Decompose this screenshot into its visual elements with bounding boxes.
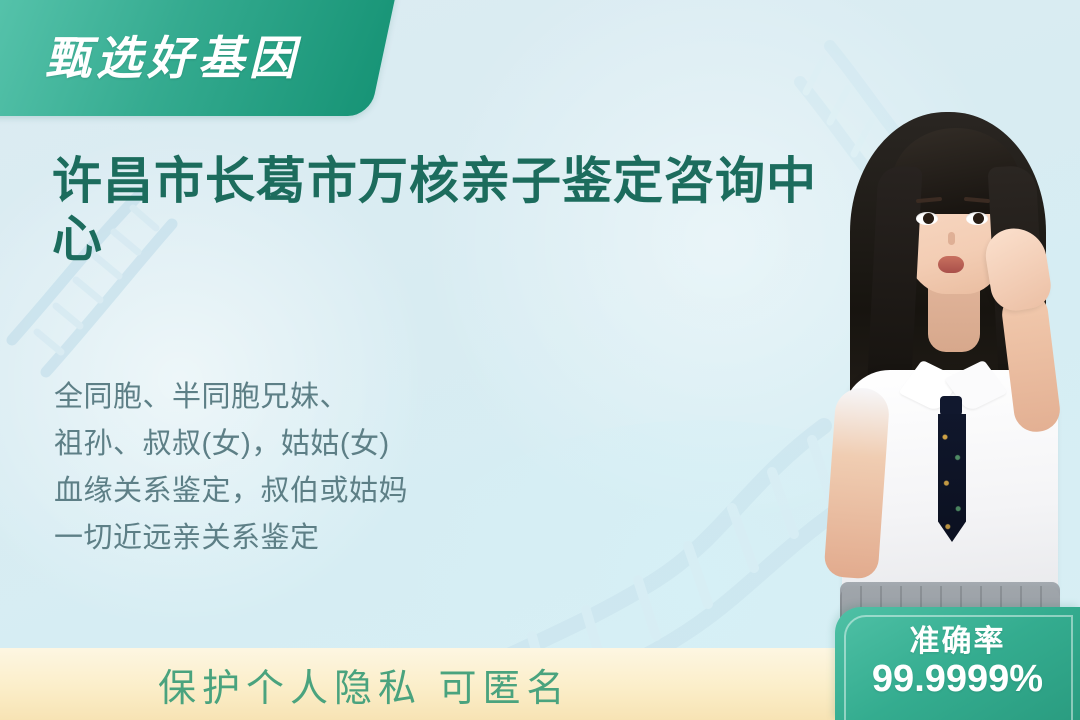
model-tie	[938, 414, 966, 542]
accuracy-badge: 准确率 99.9999%	[835, 607, 1080, 720]
page-title: 许昌市长葛市万核亲子鉴定咨询中心	[52, 152, 852, 268]
service-line: 全同胞、半同胞兄妹、	[54, 374, 408, 421]
brand-banner: 甄选好基因	[0, 0, 396, 116]
accuracy-label: 准确率	[910, 626, 1006, 658]
model-tie-knot	[940, 396, 962, 416]
model-pupil-right	[973, 213, 984, 224]
model-nose	[948, 232, 955, 245]
service-list: 全同胞、半同胞兄妹、 祖孙、叔叔(女)，姑姑(女) 血缘关系鉴定，叔伯或姑妈 一…	[54, 374, 408, 562]
model-pupil-left	[923, 213, 934, 224]
model-mouth	[938, 256, 964, 273]
brand-banner-label: 甄选好基因	[45, 22, 300, 88]
service-line: 一切近远亲关系鉴定	[54, 515, 408, 562]
service-line: 血缘关系鉴定，叔伯或姑妈	[54, 468, 408, 515]
promo-poster: 甄选好基因 许昌市长葛市万核亲子鉴定咨询中心 全同胞、半同胞兄妹、 祖孙、叔叔(…	[0, 0, 1080, 720]
privacy-label: 保护个人隐私 可匿名	[158, 657, 571, 712]
accuracy-value: 99.9999%	[872, 658, 1043, 701]
service-line: 祖孙、叔叔(女)，姑姑(女)	[54, 421, 408, 468]
